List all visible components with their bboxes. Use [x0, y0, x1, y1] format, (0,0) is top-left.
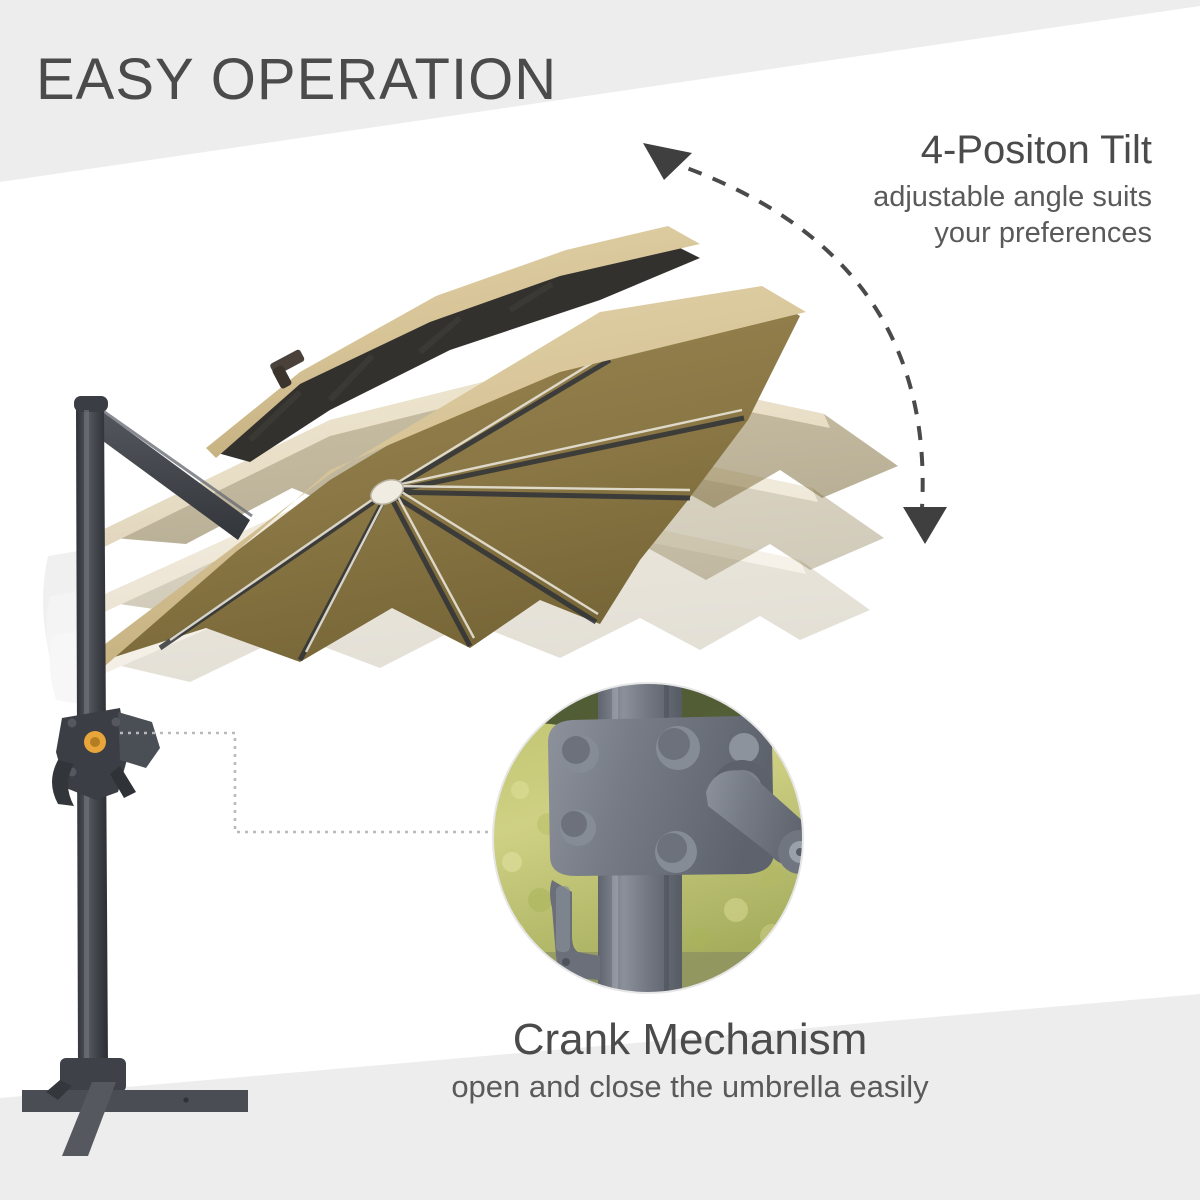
crank-detail-photo — [493, 683, 822, 993]
infographic-canvas: EASY OPERATION 4-Positon Tilt adjustable… — [0, 0, 1200, 1200]
inset-clamp-slot — [556, 886, 570, 952]
inset-clamp-bolt — [562, 958, 570, 966]
housing-bolt-3 — [729, 733, 759, 763]
crank-caption-title: Crank Mechanism — [370, 1016, 1010, 1064]
tilt-callout-subtitle-line1: adjustable angle suits — [732, 179, 1152, 216]
tilt-callout-subtitle-line2: your preferences — [732, 215, 1152, 252]
crank-caption: Crank Mechanism open and close the umbre… — [370, 1016, 1010, 1106]
crank-caption-subtitle: open and close the umbrella easily — [370, 1068, 1010, 1105]
tilt-callout-subtitle: adjustable angle suits your preferences — [732, 179, 1152, 252]
tilt-callout-title: 4-Positon Tilt — [732, 128, 1152, 173]
page-title: EASY OPERATION — [36, 46, 557, 113]
tilt-callout: 4-Positon Tilt adjustable angle suits yo… — [732, 128, 1152, 252]
